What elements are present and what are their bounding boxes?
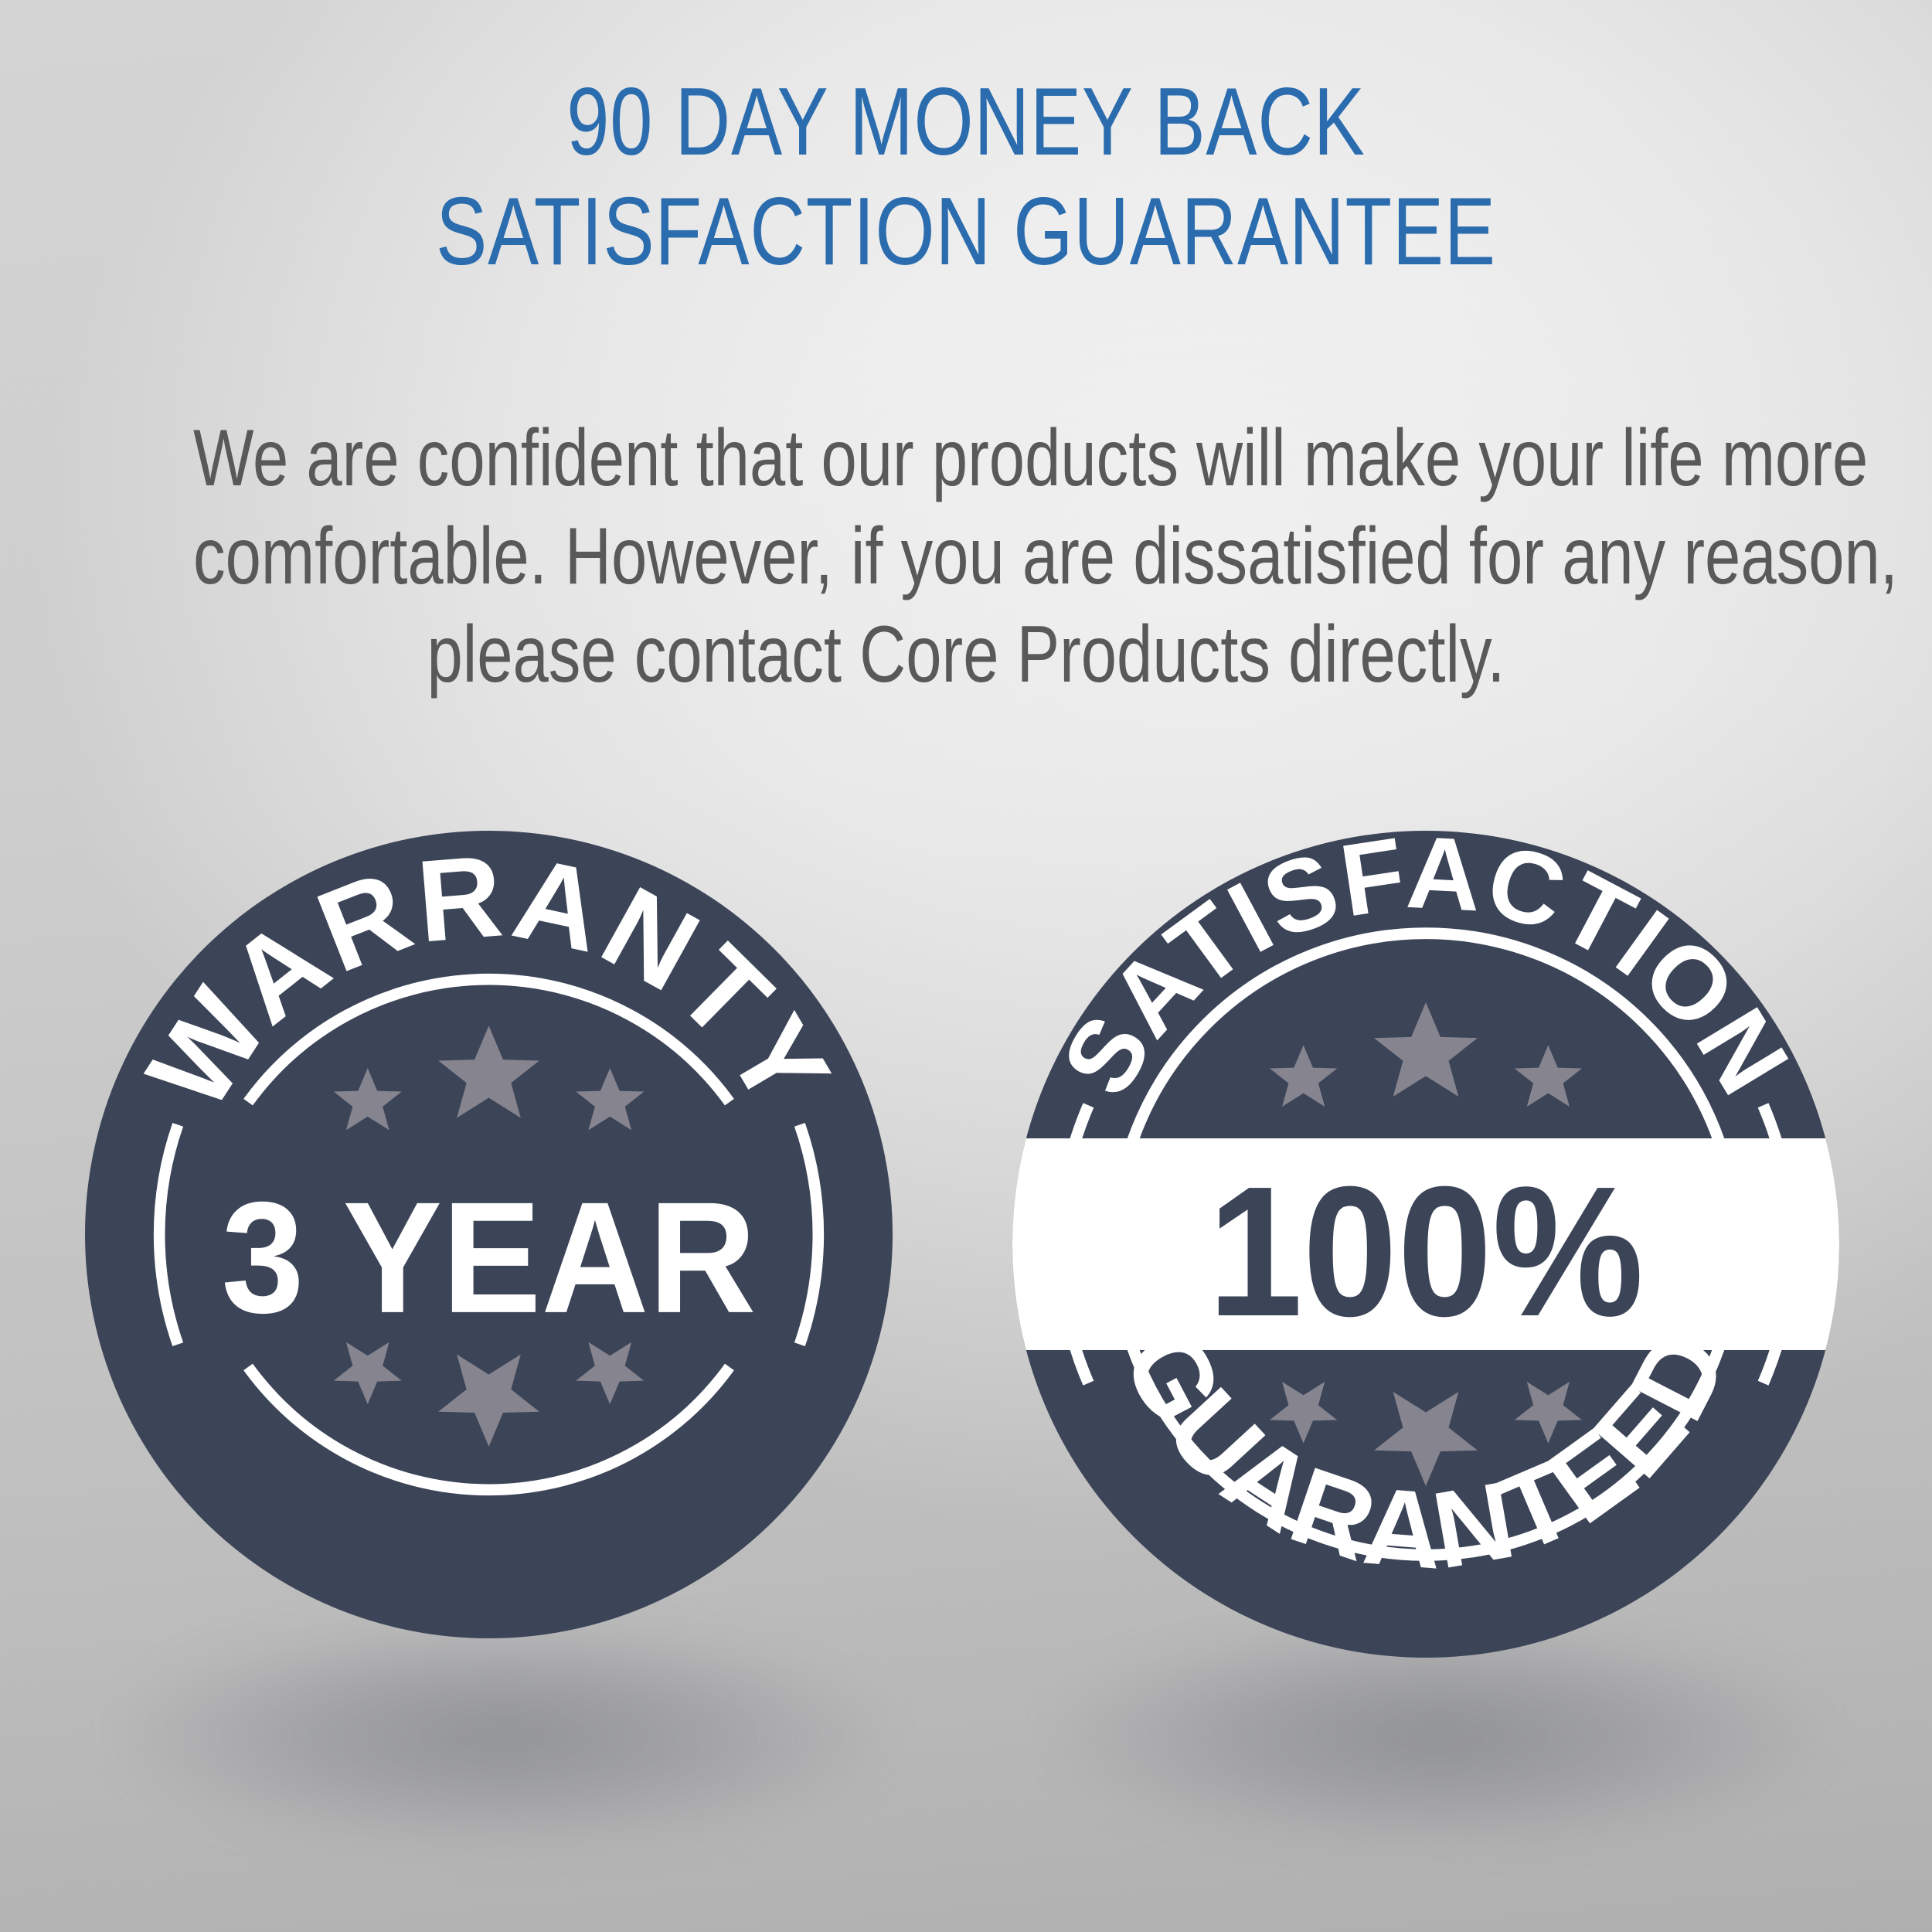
description-line-2: comfortable. However, if you are dissati… [193,508,1739,606]
description-paragraph: We are confident that our products will … [193,410,1739,704]
page-title-line-1: 90 DAY MONEY BACK [193,74,1739,170]
satisfaction-center-label: 100% [1208,1148,1644,1355]
description-line-1: We are confident that our products will … [193,410,1739,508]
warranty-badge: WARRANTY 3 YEAR [85,831,893,1638]
guarantee-graphic: 90 DAY MONEY BACK SATISFACTION GUARANTEE… [0,0,1932,1932]
description-line-3: please contact Core Products directly. [193,606,1739,704]
satisfaction-badge: SATISFACTION GUARANTEED 100% [1012,831,1839,1658]
page-title-line-2: SATISFACTION GUARANTEE [193,184,1739,280]
page-title: 90 DAY MONEY BACK SATISFACTION GUARANTEE [193,74,1739,280]
warranty-badge-shadow [124,1623,881,1847]
warranty-center-label: 3 YEAR [222,1169,757,1346]
